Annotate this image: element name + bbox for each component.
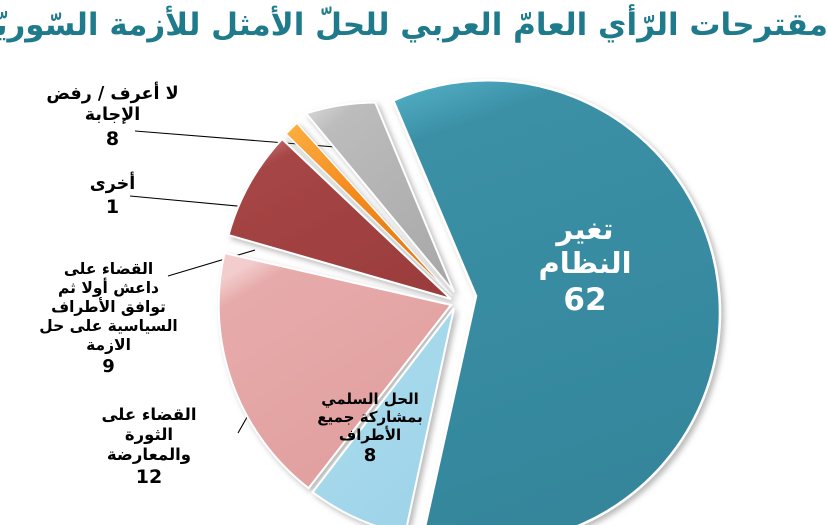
pie-label-regime-change: تغير النظام 62 — [505, 212, 665, 319]
pie-label-daesh-value: 9 — [6, 356, 211, 378]
pie-label-dont-know: لا أعرف / رفض الإجابة 8 — [10, 84, 215, 151]
pie-label-peaceful-line3: الأطراف — [339, 426, 401, 444]
pie-label-regime-change-line2: النظام — [538, 246, 631, 280]
pie-label-other-value: 1 — [10, 196, 215, 219]
pie-label-regime-change-line1: تغير — [556, 212, 613, 246]
chart-canvas: مقترحات الرّأي العامّ العربي للحلّ الأمث… — [0, 0, 828, 525]
pie-label-daesh-line5: الازمة — [86, 336, 131, 354]
pie-label-dont-know-line2: الإجابة — [85, 105, 140, 125]
pie-label-revolution-line2: الثورة — [125, 425, 173, 444]
pie-label-daesh: القضاء على داعش أولا ثم توافق الأطراف ال… — [6, 260, 211, 377]
pie-label-revolution-line3: والمعارضة — [107, 445, 191, 464]
pie-label-other-text: أخرى — [90, 174, 136, 194]
pie-label-revolution-value: 12 — [58, 466, 240, 489]
pie-label-revolution: القضاء على الثورة والمعارضة 12 — [58, 405, 240, 490]
pie-label-daesh-line2: داعش أولا ثم — [58, 279, 159, 297]
pie-label-peaceful-line2: بمشاركة جميع — [317, 408, 423, 426]
pie-label-peaceful-value: 8 — [300, 445, 440, 467]
pie-label-daesh-line3: توافق الأطراف — [51, 298, 166, 316]
pie-label-revolution-line1: القضاء على — [101, 405, 196, 424]
pie-label-peaceful-line1: الحل السلمي — [321, 390, 419, 408]
pie-label-regime-change-value: 62 — [505, 282, 665, 319]
pie-label-other: أخرى 1 — [10, 174, 215, 220]
pie-label-dont-know-line1: لا أعرف / رفض — [46, 84, 178, 104]
pie-label-daesh-line4: السياسية على حل — [39, 317, 177, 335]
pie-label-dont-know-value: 8 — [10, 128, 215, 151]
pie-label-peaceful: الحل السلمي بمشاركة جميع الأطراف 8 — [300, 390, 440, 467]
pie-label-daesh-line1: القضاء على — [64, 260, 153, 278]
